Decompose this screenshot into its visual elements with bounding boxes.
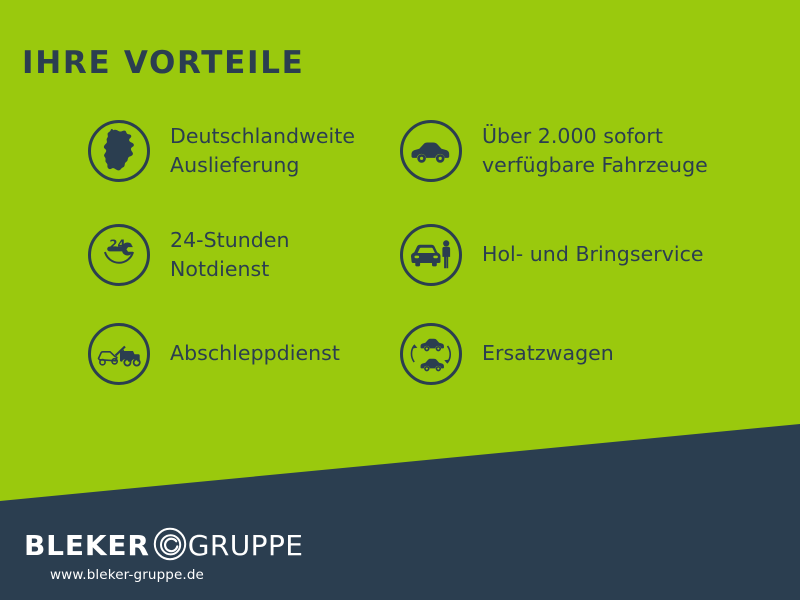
car-front-person-icon	[400, 224, 462, 286]
benefit-label: Hol- und Bringservice	[482, 240, 704, 269]
page-title: IHRE VORTEILE	[22, 48, 305, 79]
benefit-item[interactable]: Deutschlandweite Auslieferung	[88, 120, 355, 182]
benefit-item[interactable]: Ersatzwagen	[400, 323, 614, 385]
benefit-label: Ersatzwagen	[482, 339, 614, 368]
footer-logo[interactable]: BLEKER GRUPPE www.bleker-gruppe.de	[24, 529, 274, 583]
spiral-circle-icon	[153, 527, 187, 565]
slide-canvas: IHRE VORTEILE Deutschlandweite Ausliefer…	[0, 0, 800, 600]
logo-gruppe-text: GRUPPE	[188, 532, 304, 560]
two-cars-exchange-icon	[400, 323, 462, 385]
benefit-item[interactable]: Über 2.000 sofort verfügbare Fahrzeuge	[400, 120, 708, 182]
24-hour-wrench-icon: 24	[88, 224, 150, 286]
benefit-label: Deutschlandweite Auslieferung	[170, 122, 355, 180]
logo-bleker-text: BLEKER	[24, 532, 150, 560]
benefit-item[interactable]: 24 24-Stunden Notdienst	[88, 224, 290, 286]
car-side-icon	[400, 120, 462, 182]
tow-truck-icon	[88, 323, 150, 385]
germany-map-icon	[88, 120, 150, 182]
benefit-item[interactable]: Hol- und Bringservice	[400, 224, 704, 286]
benefit-label: 24-Stunden Notdienst	[170, 226, 290, 284]
benefit-item[interactable]: Abschleppdienst	[88, 323, 340, 385]
website-url[interactable]: www.bleker-gruppe.de	[24, 567, 230, 583]
benefit-label: Abschleppdienst	[170, 339, 340, 368]
benefit-label: Über 2.000 sofort verfügbare Fahrzeuge	[482, 122, 708, 180]
logo-row: BLEKER GRUPPE	[24, 529, 274, 563]
